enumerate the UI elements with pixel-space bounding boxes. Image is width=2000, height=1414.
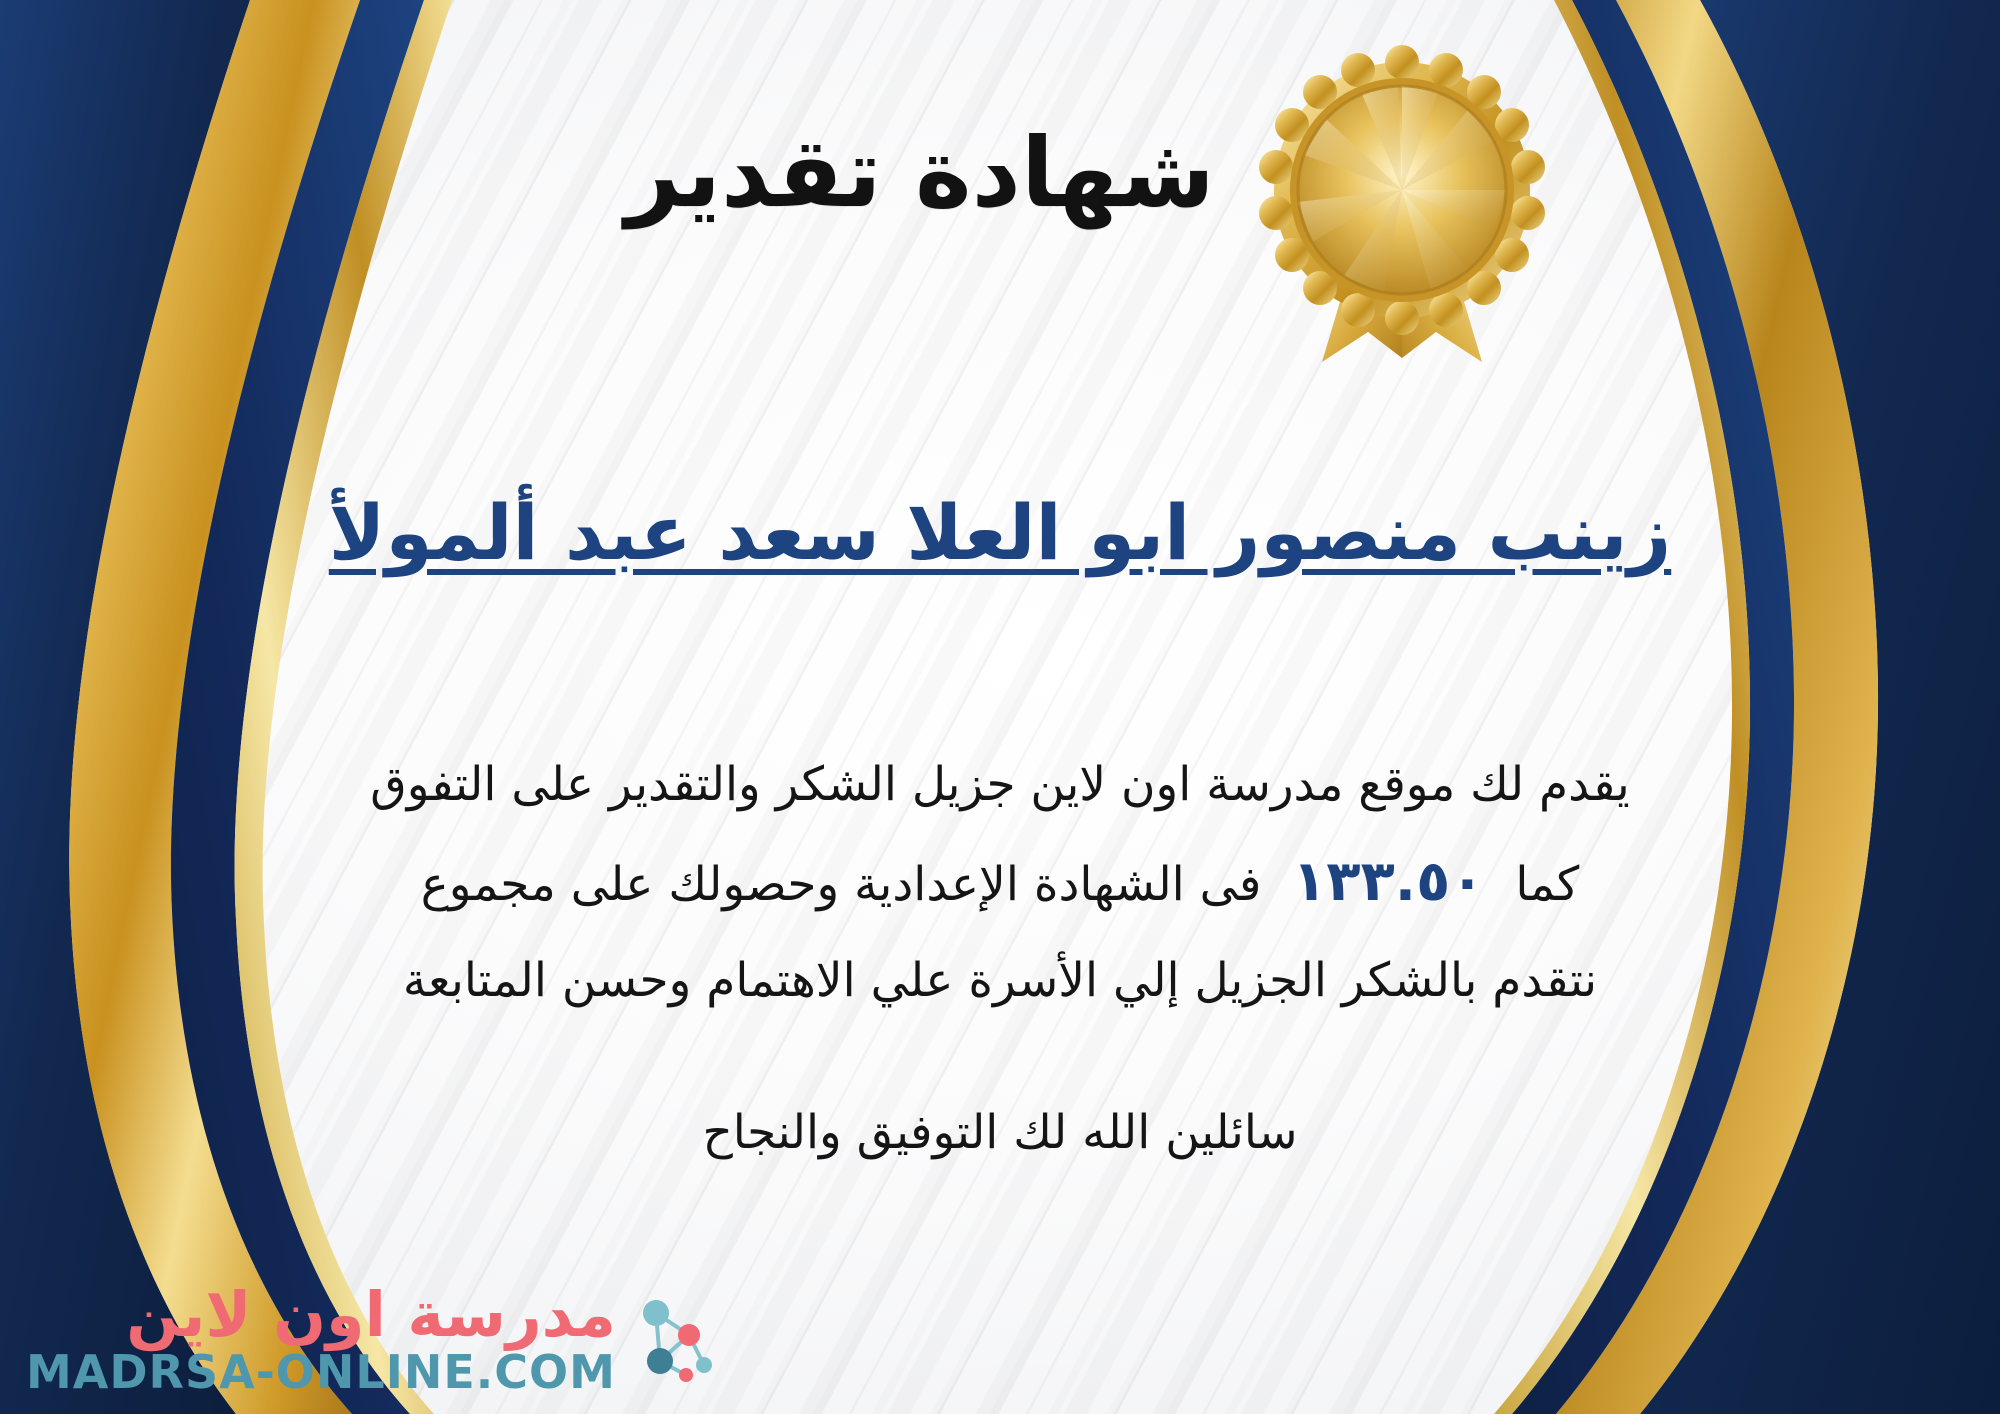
certificate-body: يقدم لك موقع مدرسة اون لاين جزيل الشكر و…	[230, 740, 1770, 1025]
grade-value: ١٣٣.٥٠	[1276, 849, 1500, 914]
body-line-3: نتقدم بالشكر الجزيل إلي الأسرة علي الاهت…	[230, 936, 1770, 1025]
body-line-1: يقدم لك موقع مدرسة اون لاين جزيل الشكر و…	[230, 740, 1770, 829]
network-nodes-icon	[626, 1291, 718, 1387]
student-name: زينب منصور ابو العلا سعد عبد ألمولأ	[0, 485, 2000, 580]
brand-name-english: MADRSA-ONLINE.COM	[26, 1348, 616, 1396]
brand-name-arabic: مدرسة اون لاين	[126, 1282, 616, 1348]
brand-logo-text: مدرسة اون لاين MADRSA-ONLINE.COM	[26, 1282, 616, 1396]
body-line-2-suffix: كما	[1515, 857, 1579, 912]
page-title: شهادة تقدير	[0, 118, 2000, 228]
body-line-2-prefix: فى الشهادة الإعدادية وحصولك على مجموع	[421, 857, 1262, 912]
closing-line: سائلين الله لك التوفيق والنجاح	[0, 1105, 2000, 1160]
body-line-2: كما ١٣٣.٥٠ فى الشهادة الإعدادية وحصولك ع…	[230, 829, 1770, 935]
brand-logo: مدرسة اون لاين MADRSA-ONLINE.COM	[26, 1282, 718, 1396]
certificate-canvas: شهادة تقدير زينب منصور ابو العلا سعد عبد…	[0, 0, 2000, 1414]
